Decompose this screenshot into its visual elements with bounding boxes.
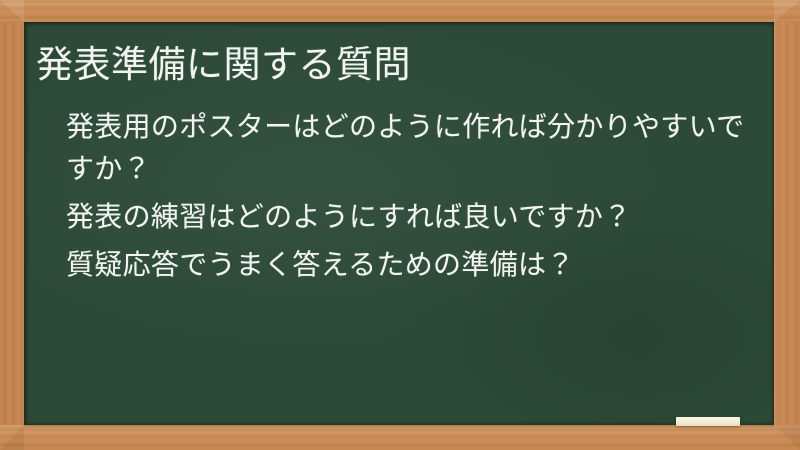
list-item: 発表の練習はどのようにすれば良いですか？ xyxy=(36,196,752,238)
frame-rail-top xyxy=(0,0,800,22)
chalk-stick-icon xyxy=(676,417,740,426)
page-title: 発表準備に関する質問 xyxy=(36,42,762,88)
frame-rail-bottom xyxy=(0,425,800,450)
frame-corner-top-right xyxy=(774,0,800,22)
chalkboard-surface: 発表準備に関する質問 発表用のポスターはどのように作れば分かりやすいですか？ 発… xyxy=(24,22,774,425)
chalkboard-slide: 発表準備に関する質問 発表用のポスターはどのように作れば分かりやすいですか？ 発… xyxy=(0,0,800,450)
list-item: 発表用のポスターはどのように作れば分かりやすいですか？ xyxy=(36,106,752,190)
frame-corner-bottom-right xyxy=(774,425,800,450)
question-list: 発表用のポスターはどのように作れば分かりやすいですか？ 発表の練習はどのようにす… xyxy=(36,106,752,292)
list-item: 質疑応答でうまく答えるための準備は？ xyxy=(36,244,752,286)
frame-corner-top-left xyxy=(0,0,24,22)
frame-corner-bottom-left xyxy=(0,425,24,450)
board-ledge-shadow xyxy=(24,425,774,428)
